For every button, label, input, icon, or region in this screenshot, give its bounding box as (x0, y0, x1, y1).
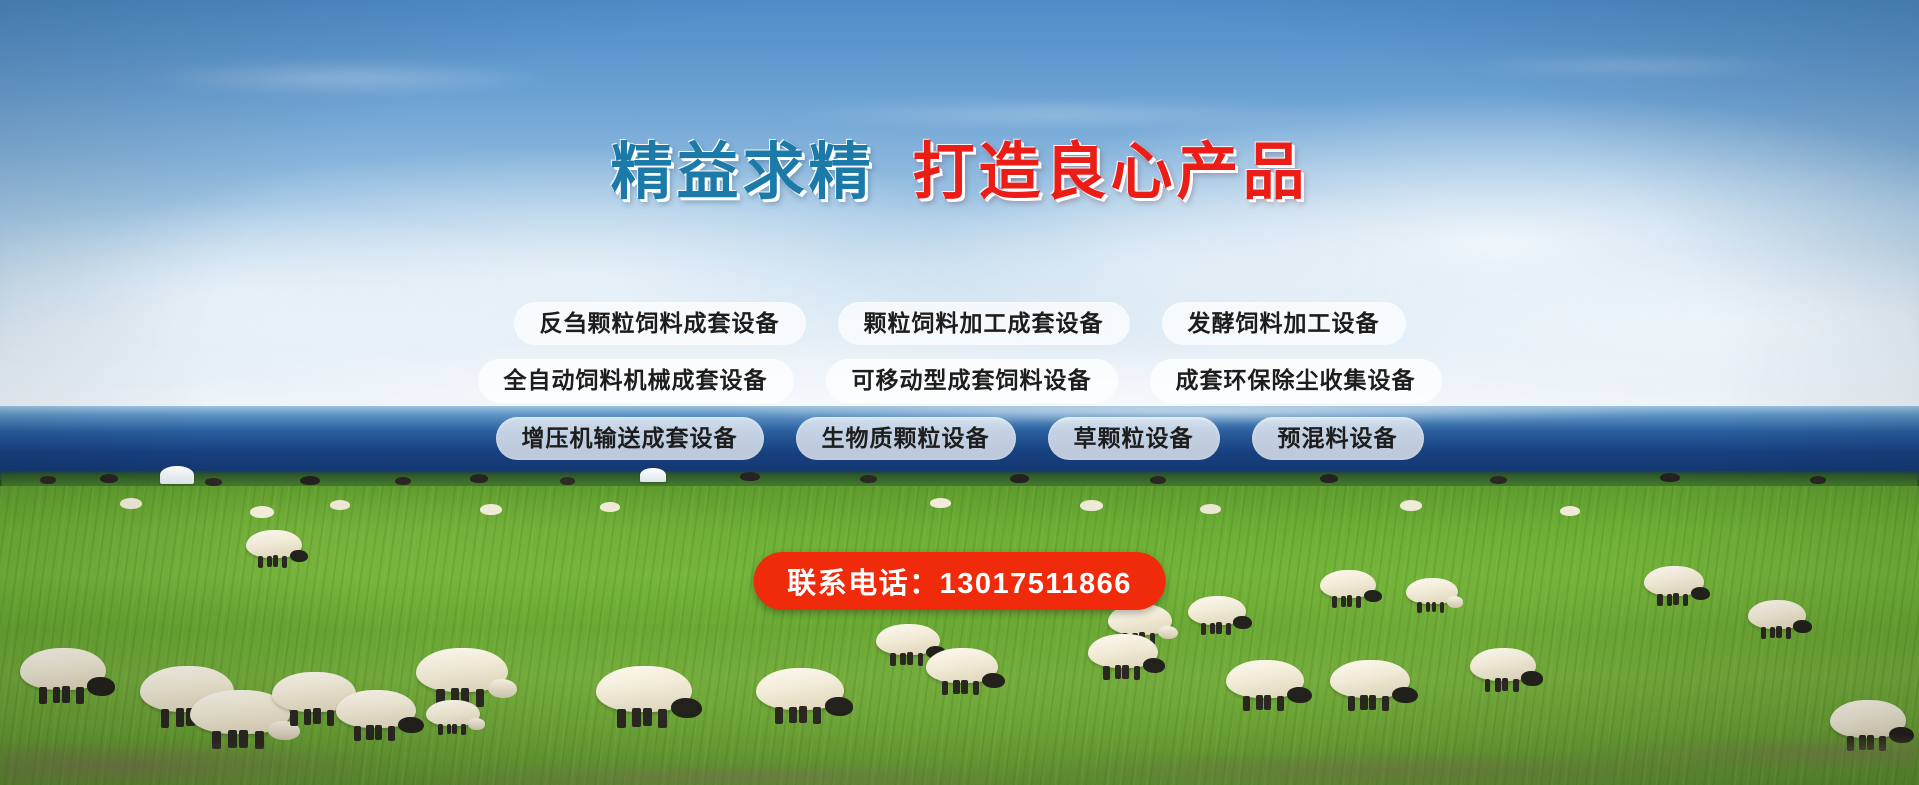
product-pill[interactable]: 预混料设备 (1252, 417, 1424, 460)
product-pill-row-2: 全自动饲料机械成套设备 可移动型成套饲料设备 成套环保除尘收集设备 (0, 359, 1919, 402)
headline-red-text: 打造良心产品 (913, 138, 1309, 207)
headline-blue-text: 精益求精 (610, 138, 874, 207)
product-pill[interactable]: 反刍颗粒饲料成套设备 (514, 302, 806, 345)
product-pill[interactable]: 生物质颗粒设备 (796, 417, 1016, 460)
product-pill[interactable]: 可移动型成套饲料设备 (826, 359, 1118, 402)
product-pill[interactable]: 草颗粒设备 (1048, 417, 1220, 460)
product-pill[interactable]: 发酵饲料加工设备 (1162, 302, 1406, 345)
contact-phone-badge[interactable]: 联系电话：13017511866 (753, 552, 1166, 610)
product-pill[interactable]: 颗粒饲料加工成套设备 (838, 302, 1130, 345)
product-pill[interactable]: 成套环保除尘收集设备 (1150, 359, 1442, 402)
product-pill-row-1: 反刍颗粒饲料成套设备 颗粒饲料加工成套设备 发酵饲料加工设备 (0, 302, 1919, 345)
product-pill-row-3: 增压机输送成套设备 生物质颗粒设备 草颗粒设备 预混料设备 (0, 417, 1919, 460)
product-pill[interactable]: 全自动饲料机械成套设备 (478, 359, 794, 402)
product-pill-list: 反刍颗粒饲料成套设备 颗粒饲料加工成套设备 发酵饲料加工设备 全自动饲料机械成套… (0, 302, 1919, 474)
page-title: 精益求精打造良心产品 (0, 142, 1919, 204)
banner-content: 精益求精打造良心产品 反刍颗粒饲料成套设备 颗粒饲料加工成套设备 发酵饲料加工设… (0, 0, 1919, 785)
product-pill[interactable]: 增压机输送成套设备 (496, 417, 764, 460)
promo-banner: 精益求精打造良心产品 反刍颗粒饲料成套设备 颗粒饲料加工成套设备 发酵饲料加工设… (0, 0, 1919, 785)
